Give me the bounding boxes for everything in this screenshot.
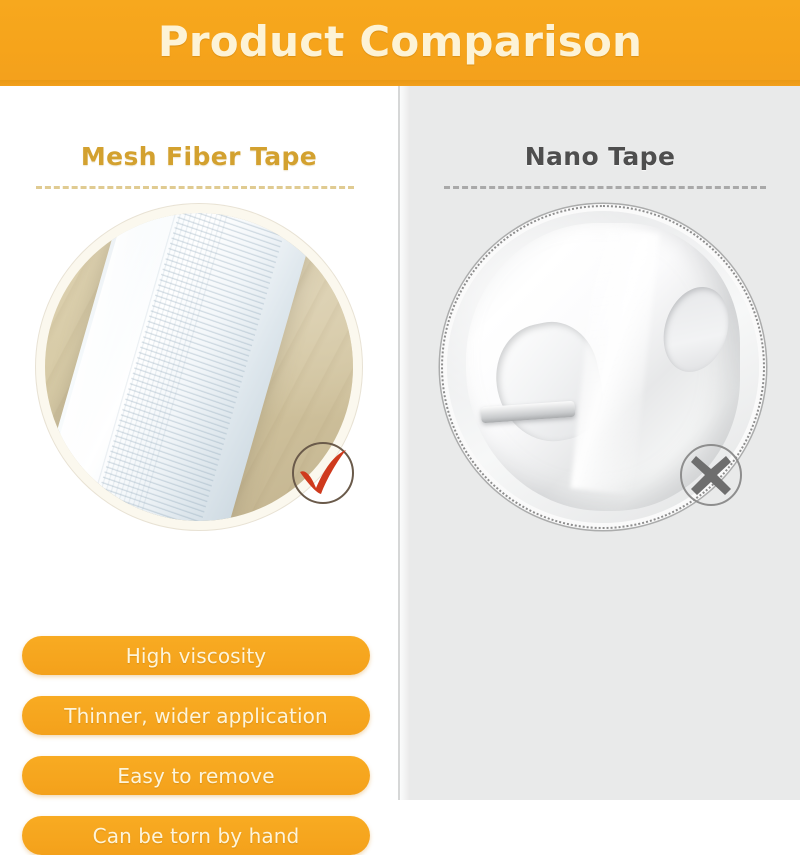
left-column-heading: Mesh Fiber Tape — [0, 142, 398, 171]
list-item: Can be torn by hand — [22, 816, 370, 855]
header-banner: Product Comparison — [0, 0, 800, 86]
product-comparison-infographic: Product Comparison Mesh Fiber Tape High … — [0, 0, 800, 800]
right-divider-dashed — [444, 186, 766, 189]
list-item: Thinner, wider application — [22, 696, 370, 735]
left-feature-list: High viscosity Thinner, wider applicatio… — [22, 636, 370, 855]
cross-icon-glyph — [687, 451, 735, 499]
check-icon — [292, 442, 354, 504]
list-item: Easy to remove — [22, 756, 370, 795]
list-item: High viscosity — [22, 636, 370, 675]
page-title: Product Comparison — [158, 17, 642, 66]
left-divider-dashed — [36, 186, 354, 189]
left-product-panel: Mesh Fiber Tape High viscosity Thinner, … — [0, 86, 398, 800]
right-column-heading: Nano Tape — [400, 142, 800, 171]
check-icon-glyph — [294, 448, 352, 498]
cross-icon — [680, 444, 742, 506]
right-product-panel: Nano Tape Medium viscosity Thicker, smal… — [398, 86, 800, 800]
